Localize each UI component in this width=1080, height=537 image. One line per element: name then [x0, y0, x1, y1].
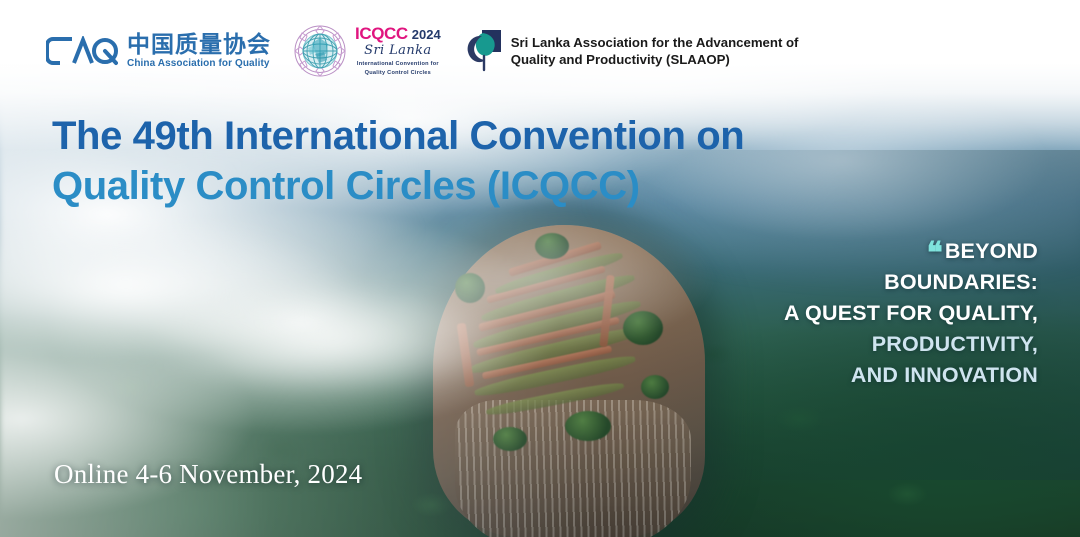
tagline-line-1: ❝BEYOND: [708, 236, 1038, 267]
sponsor-logo-bar: 中国质量协会 China Association for Quality: [46, 24, 798, 78]
conference-theme-tagline: ❝BEYOND BOUNDARIES: A QUEST FOR QUALITY,…: [708, 236, 1038, 391]
icqcc-name: ICQCC: [355, 25, 408, 42]
title-line-2: Quality Control Circles (ICQCC): [52, 162, 744, 212]
icqcc-subtitle-line2: Quality Control Circles: [365, 70, 431, 76]
icqcc-title-row: ICQCC 2024: [355, 25, 441, 42]
tagline-line-5: AND INNOVATION: [708, 360, 1038, 391]
caq-english-name: China Association for Quality: [127, 59, 271, 69]
slaaop-logo: Sri Lanka Association for the Advancemen…: [463, 28, 799, 74]
caq-logo-text: 中国质量协会 China Association for Quality: [127, 33, 271, 69]
event-date: Online 4-6 November, 2024: [54, 459, 362, 490]
icqcc-logo: ICQCC 2024 Sri Lanka International Conve…: [293, 24, 441, 78]
caq-logo-icon: [46, 36, 118, 66]
title-line-1: The 49th International Convention on: [52, 112, 744, 162]
icqcc-year: 2024: [412, 28, 441, 41]
caq-chinese-name: 中国质量协会: [127, 33, 271, 56]
icqcc-logo-text: ICQCC 2024 Sri Lanka International Conve…: [355, 25, 441, 76]
slaaop-line1: Sri Lanka Association for the Advancemen…: [511, 35, 799, 50]
icqcc-host-country: Sri Lanka: [364, 44, 431, 57]
icqcc-subtitle: International Convention for Quality Con…: [357, 60, 439, 76]
icqcc-conference-banner: 中国质量协会 China Association for Quality: [0, 0, 1080, 537]
caq-logo: 中国质量协会 China Association for Quality: [46, 33, 271, 69]
slaaop-line2: Quality and Productivity (SLAAOP): [511, 52, 730, 67]
icqcc-subtitle-line1: International Convention for: [357, 61, 439, 67]
slaaop-logo-text: Sri Lanka Association for the Advancemen…: [511, 34, 799, 69]
quote-mark-icon: ❝: [927, 237, 942, 270]
icqcc-mandala-icon: [293, 24, 347, 78]
slaaop-leaf-icon: [463, 28, 503, 74]
tagline-word-beyond: BEYOND: [945, 239, 1038, 263]
left-white-wash: [0, 0, 605, 537]
tagline-line-2: BOUNDARIES:: [708, 267, 1038, 298]
page-title: The 49th International Convention on Qua…: [52, 112, 744, 211]
tagline-line-3: A QUEST FOR QUALITY,: [708, 298, 1038, 329]
tagline-line-4: PRODUCTIVITY,: [708, 329, 1038, 360]
